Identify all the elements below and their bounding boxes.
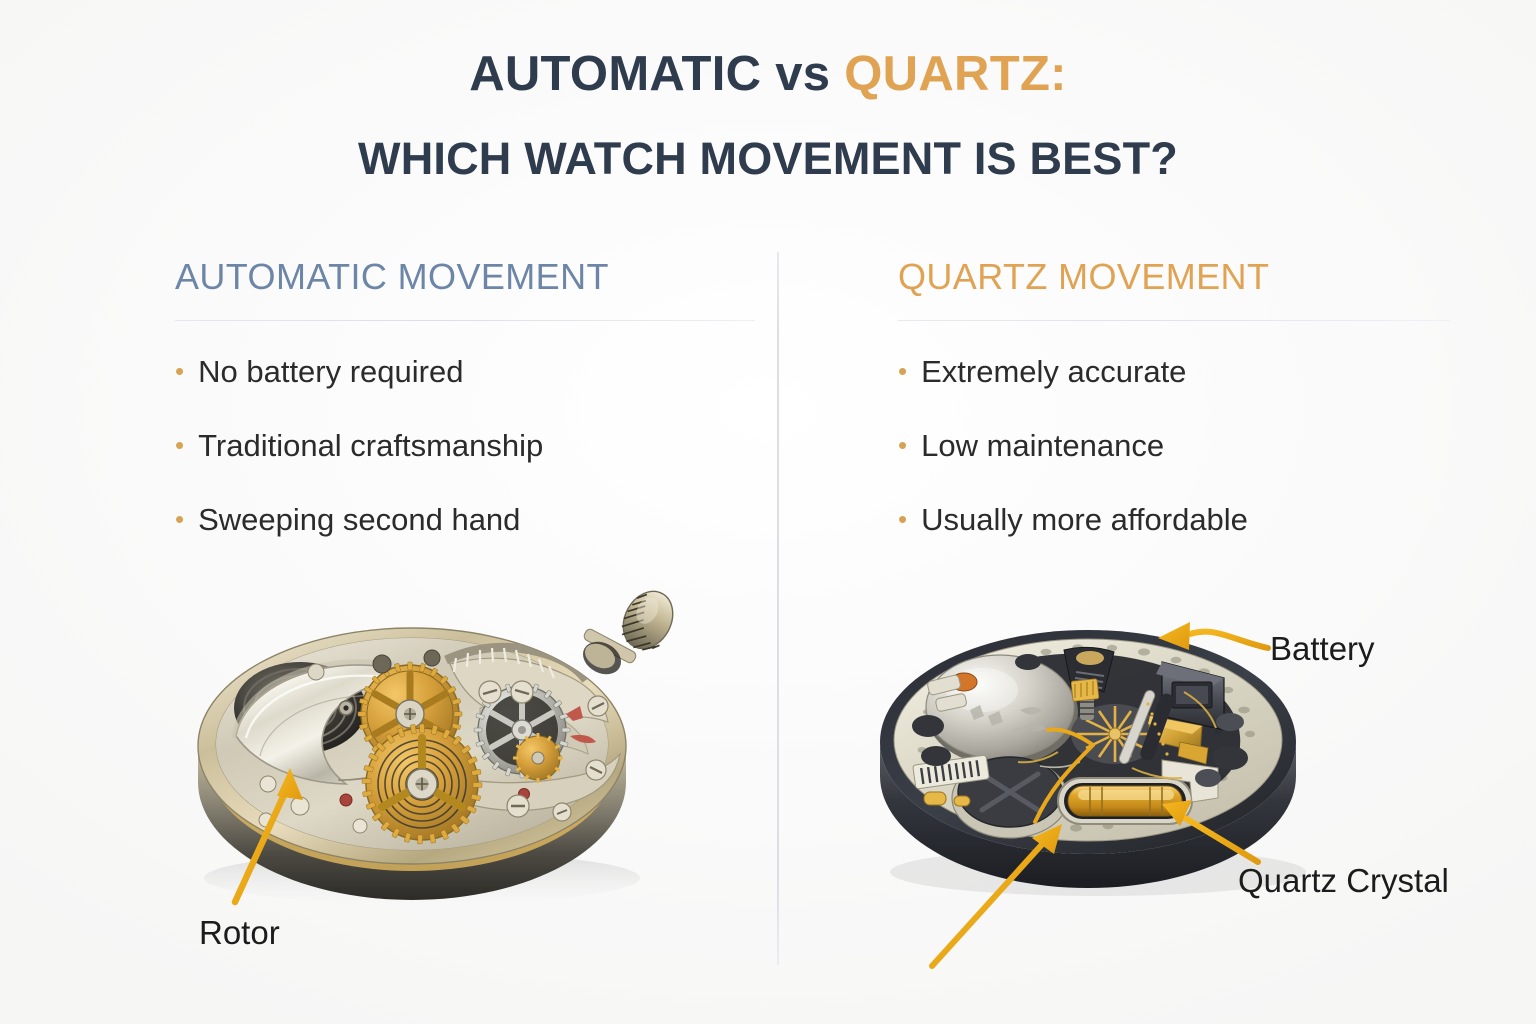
title-line-1: AUTOMATIC vs QUARTZ: xyxy=(0,48,1536,102)
screw xyxy=(586,760,606,780)
screw xyxy=(260,776,276,792)
list-item-label: Traditional craftsmanship xyxy=(198,429,543,463)
list-item-label: Sweeping second hand xyxy=(198,503,520,537)
title-accent-quartz: QUARTZ: xyxy=(844,47,1067,101)
automatic-movement-illustration xyxy=(150,588,690,918)
screw xyxy=(479,681,501,703)
screw xyxy=(353,819,367,833)
solder-pad xyxy=(1216,713,1244,731)
list-item: • Usually more affordable xyxy=(898,503,1458,537)
heading-rule-automatic xyxy=(175,320,755,322)
list-item: • Sweeping second hand xyxy=(175,503,755,537)
solder-pad xyxy=(1212,746,1248,770)
battery-cell-large xyxy=(926,655,1078,766)
column-automatic: AUTOMATIC MOVEMENT • No battery required… xyxy=(175,258,755,578)
bullet-dot-icon: • xyxy=(898,506,907,532)
smd-component xyxy=(924,792,946,805)
list-item-label: No battery required xyxy=(198,355,463,389)
callout-label-rotor: Rotor xyxy=(199,914,280,952)
list-item: • Low maintenance xyxy=(898,429,1458,463)
list-item: • Traditional craftsmanship xyxy=(175,429,755,463)
callout-label-quartz-crystal: Quartz Crystal xyxy=(1238,862,1449,900)
gold-pad-connector xyxy=(1071,679,1099,702)
list-item: • Extremely accurate xyxy=(898,355,1458,389)
solder-pad xyxy=(912,715,944,737)
bullet-dot-icon: • xyxy=(898,432,907,458)
column-heading-automatic: AUTOMATIC MOVEMENT xyxy=(175,258,755,296)
list-item-label: Usually more affordable xyxy=(921,503,1248,537)
column-quartz: QUARTZ MOVEMENT • Extremely accurate • L… xyxy=(898,258,1458,578)
bullet-dot-icon: • xyxy=(175,358,184,384)
title-prefix: AUTOMATIC vs xyxy=(469,47,844,101)
screw xyxy=(373,655,391,673)
screw xyxy=(424,650,440,666)
bullet-dot-icon: • xyxy=(898,358,907,384)
screw xyxy=(308,664,324,680)
solder-pad xyxy=(1015,654,1041,670)
list-item-label: Extremely accurate xyxy=(921,355,1186,389)
smd-component xyxy=(954,796,970,806)
list-item-label: Low maintenance xyxy=(921,429,1164,463)
solder-pad xyxy=(1195,769,1221,787)
screw xyxy=(511,681,533,703)
screw xyxy=(507,795,529,817)
crown xyxy=(577,588,682,681)
callout-label-battery: Battery xyxy=(1270,630,1375,668)
column-heading-quartz: QUARTZ MOVEMENT xyxy=(898,258,1458,296)
list-item: • No battery required xyxy=(175,355,755,389)
column-divider xyxy=(777,252,779,965)
jewel-ruby xyxy=(340,794,352,806)
infographic-page: AUTOMATIC vs QUARTZ: WHICH WATCH MOVEMEN… xyxy=(0,0,1536,1024)
title-line-2: WHICH WATCH MOVEMENT IS BEST? xyxy=(0,134,1536,184)
solder-pad xyxy=(921,746,951,766)
quartz-crystal xyxy=(1058,778,1192,824)
screw xyxy=(291,797,309,815)
feature-list-quartz: • Extremely accurate • Low maintenance •… xyxy=(898,355,1458,537)
screw xyxy=(259,813,273,827)
heading-rule-quartz xyxy=(898,320,1450,322)
screw xyxy=(588,696,608,716)
page-title: AUTOMATIC vs QUARTZ: WHICH WATCH MOVEMEN… xyxy=(0,48,1536,183)
screw xyxy=(553,803,571,821)
bullet-dot-icon: • xyxy=(175,432,184,458)
bullet-dot-icon: • xyxy=(175,506,184,532)
feature-list-automatic: • No battery required • Traditional craf… xyxy=(175,355,755,537)
